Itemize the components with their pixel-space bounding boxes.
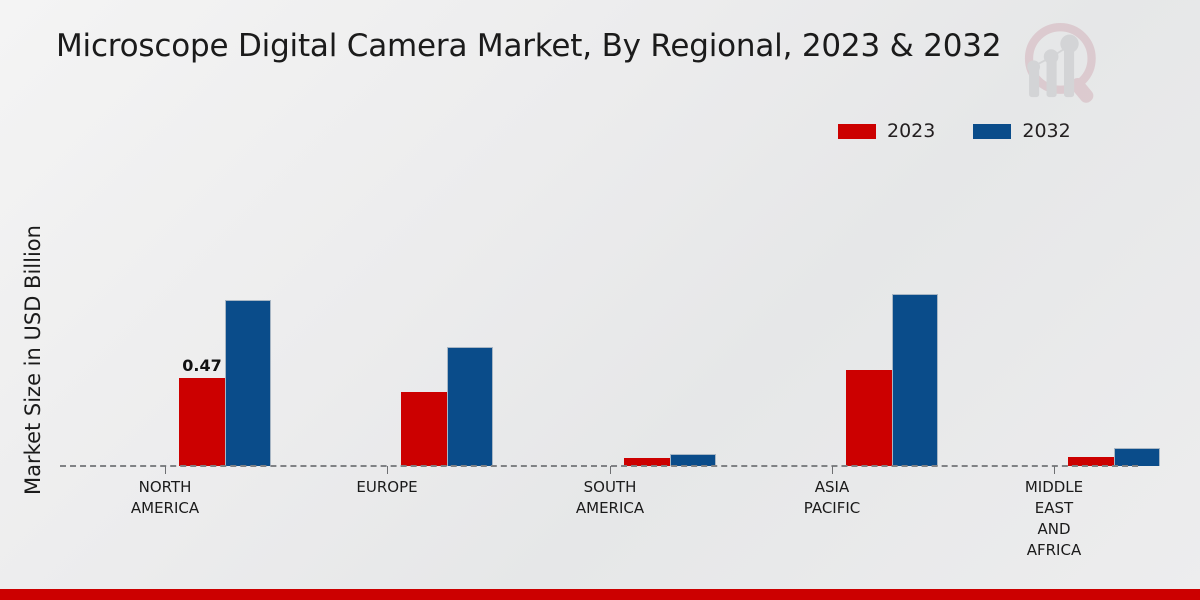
x-label-europe: EUROPE [287,477,487,498]
x-label-north-america: NORTH AMERICA [65,477,265,519]
legend-item-2032[interactable]: 2032 [973,120,1070,142]
chart-legend: 2023 2032 [838,120,1071,142]
x-tick-south-america [610,466,611,474]
legend-swatch-2032 [973,124,1011,139]
x-label-europe-line-1: EUROPE [287,477,487,498]
bar-2023-north-america: 0.47 [179,378,225,466]
footer-accent-bar [0,589,1200,600]
chart-figure: Microscope Digital Camera Market, By Reg… [0,0,1200,600]
x-label-south-america-line-1: SOUTH [510,477,710,498]
chart-title: Microscope Digital Camera Market, By Reg… [56,28,1001,64]
x-label-north-america-line-2: AMERICA [65,498,265,519]
bar-2023-europe [401,392,447,466]
x-label-middle-east-and-africa-line-1: MIDDLE [954,477,1154,498]
x-tick-middle-east-and-africa [1054,466,1055,474]
x-tick-europe [387,466,388,474]
y-axis-title: Market Size in USD Billion [21,190,45,530]
legend-label-2023: 2023 [887,120,935,142]
bar-2023-asia-pacific [846,370,892,466]
bar-value-2023-north-america: 0.47 [182,356,221,375]
x-label-middle-east-and-africa: MIDDLE EAST AND AFRICA [954,477,1154,561]
x-label-middle-east-and-africa-line-3: AND [954,519,1154,540]
bar-2032-asia-pacific [892,294,938,466]
bar-2032-north-america [225,300,271,466]
bar-2032-middle-east-and-africa [1114,448,1160,466]
x-label-asia-pacific-line-2: PACIFIC [732,498,932,519]
x-label-south-america-line-2: AMERICA [510,498,710,519]
x-label-south-america: SOUTH AMERICA [510,477,710,519]
x-label-middle-east-and-africa-line-2: EAST [954,498,1154,519]
plot-area: 0.47 [60,150,1135,466]
x-label-north-america-line-1: NORTH [65,477,265,498]
x-label-middle-east-and-africa-line-4: AFRICA [954,540,1154,561]
bar-2032-europe [447,347,493,466]
x-tick-asia-pacific [832,466,833,474]
watermark-logo-icon [1016,18,1112,110]
x-tick-north-america [165,466,166,474]
legend-label-2032: 2032 [1022,120,1070,142]
bar-group-north-america: 0.47 [160,150,290,466]
x-label-asia-pacific-line-1: ASIA [732,477,932,498]
legend-item-2023[interactable]: 2023 [838,120,935,142]
bar-group-europe [382,150,512,466]
bar-group-asia-pacific [827,150,957,466]
axis-baseline [60,465,1138,467]
bar-group-south-america [605,150,735,466]
legend-swatch-2023 [838,124,876,139]
bar-group-middle-east-and-africa [1049,150,1179,466]
x-label-asia-pacific: ASIA PACIFIC [732,477,932,519]
